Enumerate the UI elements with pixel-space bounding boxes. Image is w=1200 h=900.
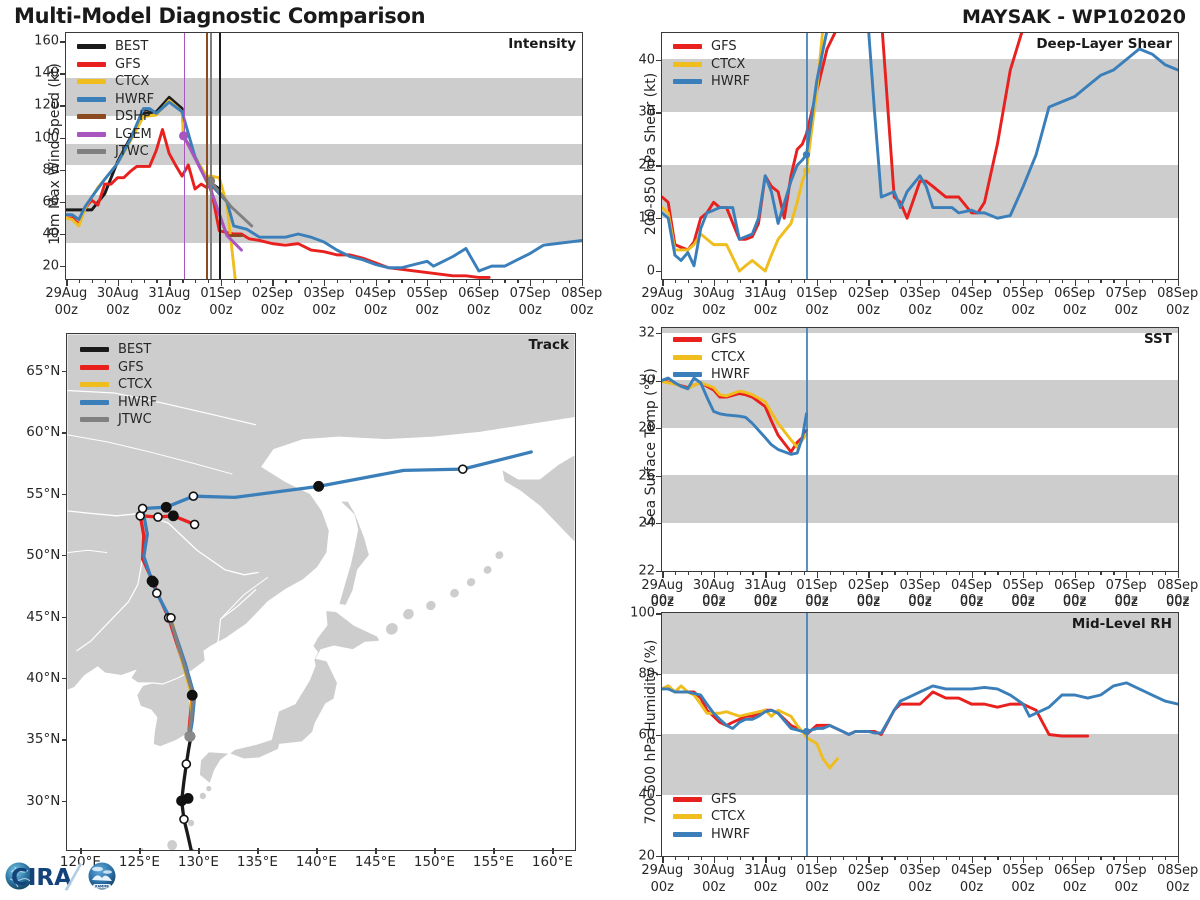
panel-rh: Mid-Level RH GFSCTCXHWRF 20406080100 29A… — [661, 612, 1179, 857]
x-tick-label: 31Aug00z — [744, 862, 786, 896]
x-tick-label: 06Sep00z — [458, 285, 499, 319]
sst-legend: GFSCTCXHWRF — [673, 331, 750, 384]
x-tick-mark — [569, 280, 570, 283]
map-lat-tick — [62, 432, 68, 433]
x-tick-label-top: 00z — [908, 592, 931, 609]
legend-label: CTCX — [711, 809, 745, 824]
x-tick-mark — [1049, 280, 1050, 283]
x-tick-label: 03Sep00z — [899, 285, 940, 319]
x-tick-mark — [740, 280, 741, 283]
x-tick-mark — [1049, 572, 1050, 575]
x-tick-mark — [401, 280, 402, 283]
legend-label: GFS — [711, 332, 737, 347]
x-tick-mark — [752, 280, 753, 283]
legend-item-ctcx: CTCX — [673, 56, 750, 74]
x-tick-label: 30Aug00z — [97, 285, 139, 319]
x-tick-mark — [1152, 280, 1153, 283]
legend-label: HWRF — [118, 395, 157, 410]
svg-text:CIRA: CIRA — [11, 865, 72, 891]
x-tick-mark — [1062, 572, 1063, 575]
legend-swatch — [80, 382, 109, 387]
x-tick-mark — [453, 280, 454, 283]
x-tick-mark — [830, 280, 831, 283]
map-lat-tick — [62, 371, 68, 372]
x-tick-mark — [752, 857, 753, 860]
x-tick-mark — [1062, 857, 1063, 860]
reference-line-dshp-init — [206, 33, 208, 279]
x-tick-mark — [830, 857, 831, 860]
x-tick-mark — [984, 572, 985, 575]
x-tick-mark — [285, 280, 286, 283]
legend-label: BEST — [118, 342, 151, 357]
x-tick-mark — [688, 857, 689, 860]
x-tick-mark — [688, 572, 689, 575]
x-tick-mark — [804, 572, 805, 575]
x-tick-mark — [1088, 280, 1089, 283]
x-tick-label: 08Sep00z — [561, 285, 602, 319]
x-tick-mark — [260, 280, 261, 283]
x-tick-mark — [830, 572, 831, 575]
map-lat-label: 55°N — [26, 486, 60, 502]
x-tick-mark — [1010, 572, 1011, 575]
legend-label: CTCX — [115, 74, 149, 89]
x-tick-mark — [504, 280, 505, 283]
legend-swatch — [673, 44, 702, 49]
legend-label: HWRF — [711, 367, 750, 382]
x-tick-mark — [946, 572, 947, 575]
x-tick-mark — [984, 857, 985, 860]
intensity-corner-label: Intensity — [508, 36, 576, 52]
x-tick-label-top: 00z — [754, 592, 777, 609]
reference-line-jtwc-init — [210, 33, 212, 279]
legend-item-jtwc: JTWC — [80, 411, 157, 429]
x-tick-mark — [388, 280, 389, 283]
x-tick-mark — [701, 280, 702, 283]
x-tick-label: 05Sep00z — [407, 285, 448, 319]
map-lon-label: 155°E — [473, 854, 514, 870]
shear-corner-label: Deep-Layer Shear — [1036, 36, 1172, 52]
map-lon-label: 130°E — [178, 854, 219, 870]
legend-item-best: BEST — [80, 341, 157, 359]
x-tick-mark — [894, 857, 895, 860]
map-lon-label: 140°E — [296, 854, 337, 870]
x-tick-mark — [556, 280, 557, 283]
x-tick-mark — [907, 572, 908, 575]
x-tick-label: 02Sep00z — [252, 285, 293, 319]
x-tick-mark — [778, 280, 779, 283]
legend-item-gfs: GFS — [673, 38, 750, 56]
legend-item-ctcx: CTCX — [77, 73, 154, 91]
map-lon-label: 125°E — [119, 854, 160, 870]
x-tick-mark — [740, 572, 741, 575]
shear-legend: GFSCTCXHWRF — [673, 38, 750, 91]
legend-item-hwrf: HWRF — [80, 394, 157, 412]
legend-label: GFS — [711, 792, 737, 807]
map-lat-tick — [62, 801, 68, 802]
intensity-legend: BESTGFSCTCXHWRFDSHPLGEMJTWC — [77, 38, 154, 161]
x-tick-mark — [804, 280, 805, 283]
x-tick-mark — [1100, 280, 1101, 283]
x-tick-mark — [894, 280, 895, 283]
legend-item-hwrf: HWRF — [673, 366, 750, 384]
x-tick-mark — [959, 572, 960, 575]
x-tick-label: 01Sep00z — [200, 285, 241, 319]
x-tick-mark — [1113, 572, 1114, 575]
legend-label: HWRF — [711, 827, 750, 842]
x-tick-mark — [959, 857, 960, 860]
panel-sst: SST GFSCTCXHWRF 222426283032 29Aug00z30A… — [661, 327, 1179, 572]
legend-swatch — [80, 417, 109, 422]
legend-label: BEST — [115, 39, 148, 54]
legend-label: GFS — [115, 57, 141, 72]
reference-line-best-current-time — [219, 33, 221, 279]
map-lon-label: 135°E — [237, 854, 278, 870]
map-lat-label: 65°N — [26, 363, 60, 379]
legend-swatch — [77, 149, 106, 154]
x-tick-label: 05Sep00z — [1003, 862, 1044, 896]
sst-y-axis-label: Sea Surface Temp (°C) — [643, 307, 659, 587]
map-lat-label: 50°N — [26, 547, 60, 563]
legend-item-gfs: GFS — [673, 331, 750, 349]
legend-label: LGEM — [115, 127, 152, 142]
x-tick-label: 31Aug00z — [744, 285, 786, 319]
track-legend: BESTGFSCTCXHWRFJTWC — [80, 341, 157, 429]
intensity-y-axis-label: 10m Max Wind Speed (kt) — [47, 14, 63, 294]
x-tick-mark — [843, 280, 844, 283]
x-tick-mark — [543, 280, 544, 283]
x-tick-mark — [740, 857, 741, 860]
legend-item-ctcx: CTCX — [673, 349, 750, 367]
x-tick-label: 07Sep00z — [510, 285, 551, 319]
x-tick-mark — [517, 280, 518, 283]
x-tick-label: 30Aug00z — [693, 285, 735, 319]
x-tick-mark — [1036, 280, 1037, 283]
map-lat-tick — [62, 617, 68, 618]
reference-line-init-time — [806, 328, 808, 571]
x-tick-mark — [1113, 280, 1114, 283]
legend-item-best: BEST — [77, 38, 154, 56]
map-lat-tick — [62, 555, 68, 556]
x-tick-mark — [727, 572, 728, 575]
x-tick-mark — [933, 280, 934, 283]
x-tick-mark — [1100, 857, 1101, 860]
x-tick-mark — [791, 572, 792, 575]
page-title: Multi-Model Diagnostic Comparison — [14, 4, 425, 28]
x-tick-mark — [1165, 280, 1166, 283]
rh-legend: GFSCTCXHWRF — [673, 791, 750, 844]
x-tick-mark — [881, 280, 882, 283]
legend-item-ctcx: CTCX — [80, 376, 157, 394]
x-tick-mark — [1165, 857, 1166, 860]
legend-label: JTWC — [115, 144, 149, 159]
x-tick-mark — [959, 280, 960, 283]
x-tick-mark — [778, 572, 779, 575]
x-tick-label-top: 00z — [857, 592, 880, 609]
x-tick-mark — [247, 280, 248, 283]
legend-swatch — [77, 132, 106, 137]
x-tick-mark — [933, 572, 934, 575]
x-tick-mark — [843, 857, 844, 860]
legend-label: HWRF — [711, 74, 750, 89]
x-tick-mark — [843, 572, 844, 575]
shear-y-axis-label: 200-850 hPa Shear (kt) — [643, 14, 659, 294]
x-tick-label-top: 00z — [702, 592, 725, 609]
x-tick-mark — [144, 280, 145, 283]
x-tick-mark — [881, 857, 882, 860]
track-corner-label: Track — [529, 337, 569, 353]
x-tick-mark — [675, 280, 676, 283]
x-tick-mark — [414, 280, 415, 283]
legend-swatch — [77, 97, 106, 102]
x-tick-mark — [997, 857, 998, 860]
legend-label: CTCX — [711, 350, 745, 365]
x-tick-label: 05Sep00z — [1003, 285, 1044, 319]
x-tick-mark — [234, 280, 235, 283]
x-tick-mark — [92, 280, 93, 283]
legend-label: CTCX — [118, 377, 152, 392]
map-lat-tick — [62, 494, 68, 495]
x-tick-mark — [752, 572, 753, 575]
map-lat-label: 60°N — [26, 424, 60, 440]
x-tick-label: 02Sep00z — [848, 285, 889, 319]
x-tick-mark — [156, 280, 157, 283]
map-lon-label: 160°E — [532, 854, 573, 870]
x-tick-mark — [1165, 572, 1166, 575]
legend-swatch — [80, 400, 109, 405]
panel-shear: Deep-Layer Shear GFSCTCXHWRF 010203040 2… — [661, 32, 1179, 280]
x-tick-mark — [907, 857, 908, 860]
x-tick-label: 08Sep00z — [1157, 862, 1198, 896]
x-tick-mark — [894, 572, 895, 575]
x-tick-mark — [856, 280, 857, 283]
legend-item-hwrf: HWRF — [673, 73, 750, 91]
reference-line-lgem-init — [184, 33, 186, 279]
x-tick-mark — [311, 280, 312, 283]
legend-item-hwrf: HWRF — [77, 91, 154, 109]
x-tick-mark — [946, 280, 947, 283]
x-tick-label-top: 00z — [1114, 592, 1137, 609]
map-lat-tick — [62, 678, 68, 679]
x-tick-mark — [1036, 857, 1037, 860]
x-tick-label-top: 00z — [1011, 592, 1034, 609]
map-lat-label: 40°N — [26, 670, 60, 686]
x-tick-mark — [1088, 857, 1089, 860]
x-tick-mark — [688, 280, 689, 283]
x-tick-label: 04Sep00z — [951, 285, 992, 319]
reference-line-init-time — [806, 33, 808, 279]
legend-swatch — [673, 79, 702, 84]
x-tick-mark — [105, 280, 106, 283]
map-lat-tick — [62, 739, 68, 740]
x-tick-mark — [1139, 857, 1140, 860]
x-tick-mark — [1036, 572, 1037, 575]
x-tick-mark — [997, 572, 998, 575]
legend-swatch — [673, 372, 702, 377]
rh-corner-label: Mid-Level RH — [1072, 616, 1172, 632]
legend-swatch — [77, 44, 106, 49]
x-tick-mark — [881, 572, 882, 575]
x-tick-mark — [363, 280, 364, 283]
storm-identifier: MAYSAK - WP102020 — [962, 6, 1186, 28]
x-tick-label: 01Sep00z — [796, 285, 837, 319]
x-tick-label: 07Sep00z — [1106, 862, 1147, 896]
legend-label: GFS — [118, 360, 144, 375]
x-tick-mark — [337, 280, 338, 283]
x-tick-label: 04Sep00z — [355, 285, 396, 319]
x-tick-mark — [727, 280, 728, 283]
x-tick-label: 04Sep00z — [951, 862, 992, 896]
x-tick-mark — [195, 280, 196, 283]
x-tick-mark — [492, 280, 493, 283]
x-tick-label: 03Sep00z — [303, 285, 344, 319]
sst-corner-label: SST — [1144, 331, 1172, 347]
legend-swatch — [77, 79, 106, 84]
x-tick-mark — [701, 572, 702, 575]
map-lat-label: 45°N — [26, 609, 60, 625]
x-tick-mark — [984, 280, 985, 283]
x-tick-mark — [79, 280, 80, 283]
x-tick-mark — [1100, 572, 1101, 575]
legend-swatch — [673, 62, 702, 67]
x-tick-mark — [804, 857, 805, 860]
x-tick-mark — [1152, 572, 1153, 575]
x-tick-mark — [856, 572, 857, 575]
x-tick-label-top: 00z — [1166, 592, 1189, 609]
panel-intensity: Intensity BESTGFSCTCXHWRFDSHPLGEMJTWC 20… — [65, 32, 583, 280]
map-lon-label: 150°E — [414, 854, 455, 870]
map-lat-label: 30°N — [26, 793, 60, 809]
map-lon-label: 145°E — [355, 854, 396, 870]
x-tick-mark — [208, 280, 209, 283]
legend-label: CTCX — [711, 57, 745, 72]
x-tick-label: 06Sep00z — [1054, 862, 1095, 896]
x-tick-label: 07Sep00z — [1106, 285, 1147, 319]
x-tick-label-top: 00z — [1063, 592, 1086, 609]
x-tick-mark — [791, 857, 792, 860]
series-line-hwrf — [662, 683, 1178, 735]
x-tick-mark — [856, 857, 857, 860]
legend-label: JTWC — [118, 412, 152, 427]
x-tick-label: 30Aug00z — [693, 862, 735, 896]
legend-item-gfs: GFS — [80, 359, 157, 377]
legend-swatch — [77, 62, 106, 67]
x-tick-mark — [675, 857, 676, 860]
x-tick-mark — [701, 857, 702, 860]
svg-text:RAMMB: RAMMB — [95, 885, 109, 889]
legend-swatch — [673, 337, 702, 342]
legend-item-hwrf: HWRF — [673, 826, 750, 844]
legend-swatch — [673, 797, 702, 802]
x-tick-mark — [440, 280, 441, 283]
x-tick-mark — [933, 857, 934, 860]
x-tick-mark — [182, 280, 183, 283]
x-tick-label: 01Sep00z — [796, 862, 837, 896]
legend-item-gfs: GFS — [673, 791, 750, 809]
x-tick-label-top: 00z — [960, 592, 983, 609]
legend-label: DSHP — [115, 109, 151, 124]
map-lat-label: 35°N — [26, 731, 60, 747]
x-tick-mark — [727, 857, 728, 860]
reference-line-init-time — [806, 613, 808, 856]
legend-swatch — [673, 355, 702, 360]
x-tick-mark — [131, 280, 132, 283]
x-tick-label: 03Sep00z — [899, 862, 940, 896]
x-tick-mark — [466, 280, 467, 283]
x-tick-mark — [997, 280, 998, 283]
legend-swatch — [80, 365, 109, 370]
x-tick-label: 02Sep00z — [848, 862, 889, 896]
x-tick-mark — [1049, 857, 1050, 860]
x-tick-mark — [1139, 572, 1140, 575]
x-tick-label: 31Aug00z — [148, 285, 190, 319]
x-tick-mark — [791, 280, 792, 283]
legend-swatch — [673, 832, 702, 837]
legend-item-dshp: DSHP — [77, 108, 154, 126]
legend-item-lgem: LGEM — [77, 126, 154, 144]
x-tick-mark — [298, 280, 299, 283]
x-tick-mark — [1088, 572, 1089, 575]
x-tick-mark — [907, 280, 908, 283]
x-tick-mark — [1139, 280, 1140, 283]
legend-item-jtwc: JTWC — [77, 143, 154, 161]
x-tick-mark — [1152, 857, 1153, 860]
legend-item-ctcx: CTCX — [673, 808, 750, 826]
legend-label: GFS — [711, 39, 737, 54]
rh-y-axis-label: 700-500 hPa Humidity (%) — [643, 592, 659, 872]
x-tick-mark — [675, 572, 676, 575]
series-line-ctcx — [662, 686, 837, 768]
x-tick-mark — [1010, 857, 1011, 860]
panel-track: Track BESTGFSCTCXHWRFJTWC 120°E125°E130°… — [66, 333, 576, 851]
legend-label: HWRF — [115, 92, 154, 107]
x-tick-label: 06Sep00z — [1054, 285, 1095, 319]
x-tick-label: 08Sep00z — [1157, 285, 1198, 319]
legend-swatch — [77, 114, 106, 119]
legend-item-gfs: GFS — [77, 56, 154, 74]
legend-swatch — [673, 814, 702, 819]
x-tick-mark — [778, 857, 779, 860]
x-tick-mark — [946, 857, 947, 860]
x-tick-mark — [1010, 280, 1011, 283]
legend-swatch — [80, 347, 109, 352]
x-tick-mark — [1113, 857, 1114, 860]
cira-logo: CIRA RAMMB — [4, 854, 122, 898]
x-tick-mark — [1062, 280, 1063, 283]
x-tick-label-top: 00z — [805, 592, 828, 609]
x-tick-mark — [350, 280, 351, 283]
